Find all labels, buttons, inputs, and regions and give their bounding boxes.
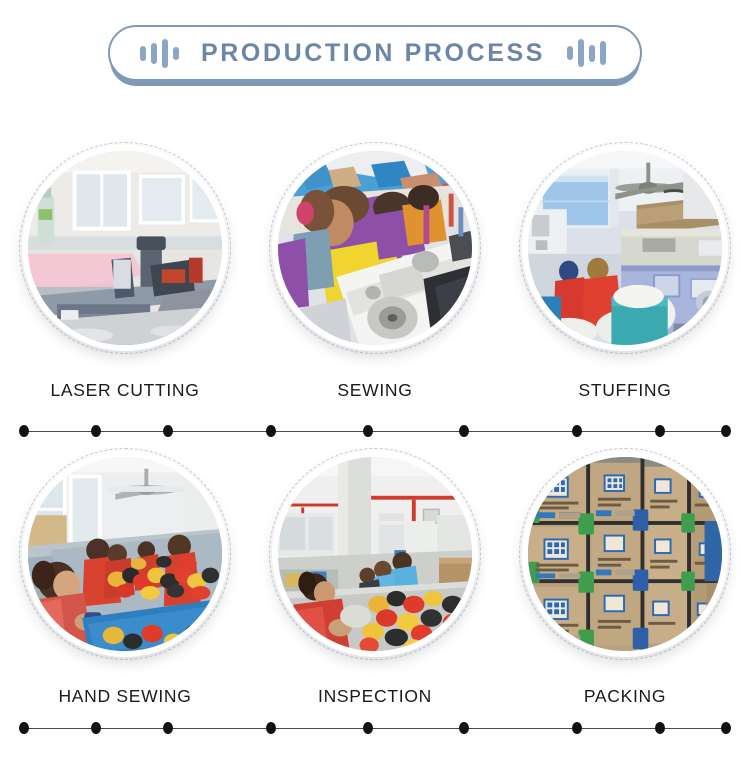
process-step-laser-cutting: LASER CUTTING [0, 142, 250, 401]
timeline-dot [163, 722, 173, 734]
process-row-1: LASER CUTTING [0, 142, 750, 401]
photo-laser-cutting [28, 151, 222, 345]
timeline-dot [266, 722, 276, 734]
timeline-dot [721, 722, 731, 734]
timeline-dot [572, 722, 582, 734]
timeline-divider-bottom [0, 722, 750, 736]
step-photo-circle [19, 448, 231, 660]
timeline-dot [163, 425, 173, 437]
photo-packing [528, 457, 722, 651]
timeline-dot [655, 425, 665, 437]
timeline-dot [459, 722, 469, 734]
photo-stuffing [528, 151, 722, 345]
timeline-dot [19, 425, 29, 437]
timeline-dot [266, 425, 276, 437]
step-label: PACKING [584, 686, 666, 707]
timeline-dot [459, 425, 469, 437]
timeline-dot [19, 722, 29, 734]
photo-hand-sewing [28, 457, 222, 651]
process-row-2: HAND SEWING [0, 448, 750, 707]
timeline-line [24, 431, 726, 432]
timeline-dot [363, 425, 373, 437]
step-photo-circle [269, 448, 481, 660]
header-area: PRODUCTION PROCESS [0, 25, 750, 81]
step-photo-circle [19, 142, 231, 354]
equalizer-bars-icon-left [140, 38, 179, 68]
step-label: STUFFING [578, 380, 671, 401]
equalizer-bars-icon-right [567, 38, 606, 68]
photo-sewing [278, 151, 472, 345]
step-label: SEWING [337, 380, 412, 401]
timeline-dot [91, 425, 101, 437]
step-label: INSPECTION [318, 686, 432, 707]
process-step-packing: PACKING [500, 448, 750, 707]
step-photo-circle [519, 448, 731, 660]
process-step-sewing: SEWING [250, 142, 500, 401]
photo-inspection [278, 457, 472, 651]
process-step-inspection: INSPECTION [250, 448, 500, 707]
production-process-banner: PRODUCTION PROCESS [0, 0, 750, 765]
step-photo-circle [519, 142, 731, 354]
title-pill: PRODUCTION PROCESS [108, 25, 642, 81]
timeline-dot [572, 425, 582, 437]
process-step-hand-sewing: HAND SEWING [0, 448, 250, 707]
step-label: HAND SEWING [58, 686, 191, 707]
timeline-line [24, 728, 726, 729]
step-label: LASER CUTTING [50, 380, 199, 401]
timeline-divider-top [0, 425, 750, 439]
timeline-dot [721, 425, 731, 437]
step-photo-circle [269, 142, 481, 354]
timeline-dot [655, 722, 665, 734]
process-step-stuffing: STUFFING [500, 142, 750, 401]
timeline-dot [91, 722, 101, 734]
timeline-dot [363, 722, 373, 734]
page-title: PRODUCTION PROCESS [201, 41, 545, 66]
